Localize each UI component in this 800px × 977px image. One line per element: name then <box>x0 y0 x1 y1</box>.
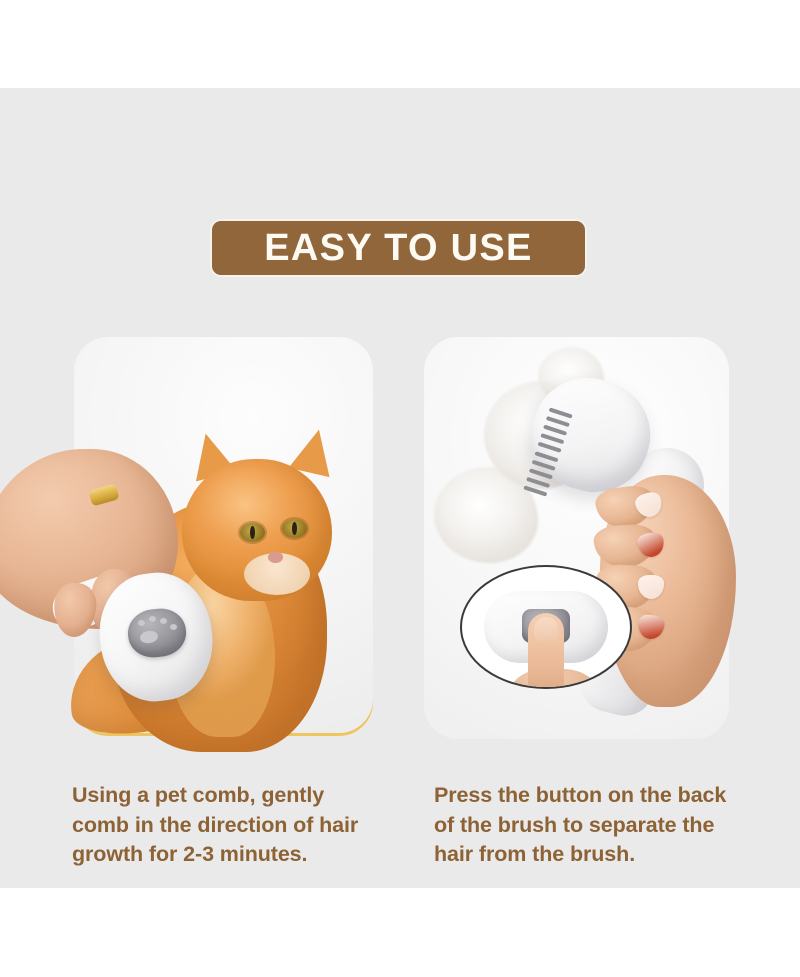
step-1-caption: Using a pet comb, gently comb in the dir… <box>72 781 382 870</box>
paw-print-toe-icon <box>170 624 177 630</box>
page-title: EASY TO USE <box>264 229 532 267</box>
step-2-photo <box>427 340 726 736</box>
fur-release-scene <box>424 337 729 739</box>
infographic-page: EASY TO USE <box>0 0 800 977</box>
step-2-photo-frame <box>427 340 726 736</box>
cat-nose-icon <box>268 552 283 563</box>
step-1-photo-frame <box>74 340 373 736</box>
title-banner: EASY TO USE <box>212 221 585 275</box>
magnified-detail-inset <box>460 565 632 689</box>
paw-print-toe-icon <box>160 618 167 624</box>
paw-print-toe-icon <box>149 616 156 622</box>
cat-eye-right-icon <box>282 519 307 538</box>
cat-grooming-scene <box>0 337 454 739</box>
paw-print-toe-icon <box>138 620 145 626</box>
infographic-board: EASY TO USE <box>0 88 800 888</box>
step-1-photo <box>74 340 373 736</box>
cat-eye-left-icon <box>240 523 265 542</box>
step-2-caption: Press the button on the back of the brus… <box>434 781 734 870</box>
pressing-fingernail-icon <box>534 617 558 643</box>
